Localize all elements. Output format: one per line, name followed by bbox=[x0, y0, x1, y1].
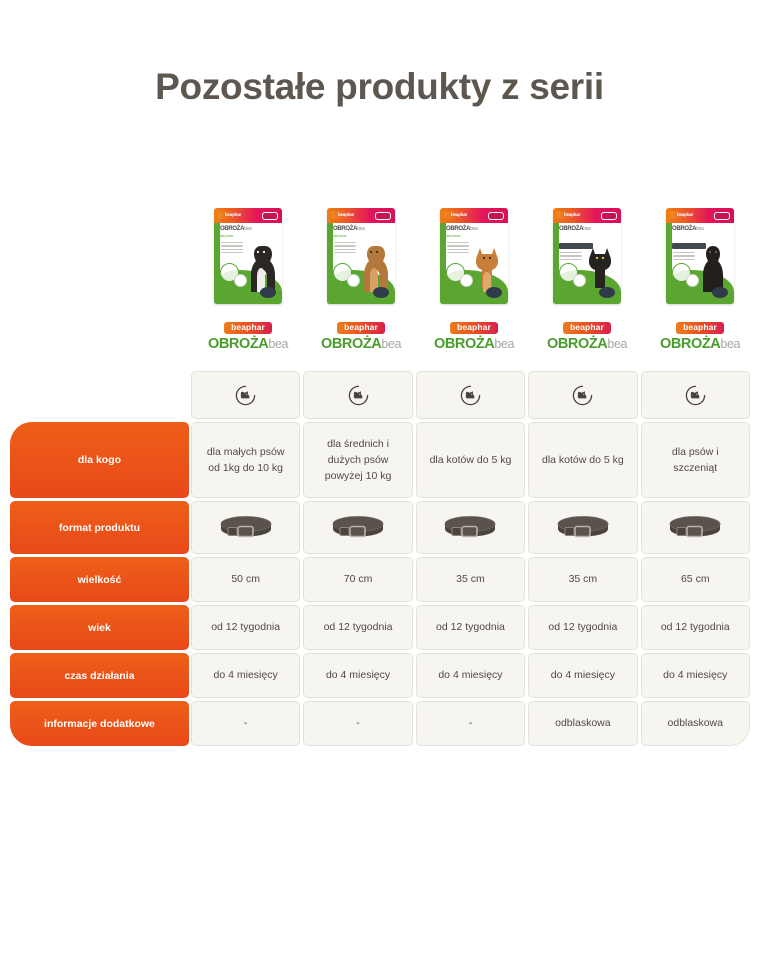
animal-head-icon bbox=[528, 371, 637, 419]
row-label-dla-kogo: dla kogo bbox=[10, 422, 189, 498]
animal-head-icon bbox=[191, 371, 300, 419]
logo-word-main: OBROŻA bbox=[321, 336, 381, 352]
product-package-image: beaphar OBROŻAbea dla psów bbox=[214, 208, 282, 304]
package-title: OBROŻAbea bbox=[672, 226, 704, 232]
product-logo: beaphar OBROŻAbea bbox=[660, 318, 740, 352]
package-brand-badge: beaphar bbox=[670, 211, 700, 219]
package-subtitle: dla psów bbox=[333, 234, 346, 238]
table-cell: od 12 tygodnia bbox=[191, 605, 300, 650]
table-row: informacje dodatkowe - - - odblaskowa od… bbox=[10, 701, 750, 746]
table-cell: dla małych psów od 1kg do 10 kg bbox=[191, 422, 300, 498]
animal-head-icon bbox=[641, 371, 750, 419]
table-cell: 35 cm bbox=[416, 557, 525, 602]
package-body: OBROŻAbea bbox=[553, 223, 621, 304]
product-package-image: beaphar OBROŻAbea bbox=[666, 208, 734, 304]
package-body: OBROŻAbea dla kotów bbox=[440, 223, 508, 304]
product-logo-word: OBROŻAbea bbox=[208, 337, 288, 352]
package-subtitle: dla psów bbox=[220, 234, 233, 238]
dog-golden-icon bbox=[357, 242, 391, 294]
product-logo: beaphar OBROŻAbea bbox=[321, 318, 401, 352]
collar-icon bbox=[303, 501, 412, 554]
table-cell: do 4 miesięcy bbox=[528, 653, 637, 698]
package-text-lines bbox=[221, 242, 243, 256]
package-brand-badge: beaphar bbox=[444, 211, 474, 219]
logo-word-suffix: bea bbox=[494, 337, 514, 351]
package-title: OBROŻAbea bbox=[559, 226, 591, 232]
logo-word-main: OBROŻA bbox=[660, 336, 720, 352]
table-cell: 65 cm bbox=[641, 557, 750, 602]
package-product-photo bbox=[260, 287, 276, 298]
package-brand-badge: beaphar bbox=[331, 211, 361, 219]
table-cell: odblaskowa bbox=[641, 701, 750, 746]
brand-badge: beaphar bbox=[563, 322, 611, 334]
table-row: czas działania do 4 miesięcy do 4 miesię… bbox=[10, 653, 750, 698]
brand-badge: beaphar bbox=[676, 322, 724, 334]
collar-icon bbox=[191, 501, 300, 554]
brand-badge: beaphar bbox=[224, 322, 272, 334]
package-corner-tag bbox=[601, 212, 617, 220]
package-title: OBROŻAbea bbox=[220, 226, 252, 232]
product-logo-word: OBROŻAbea bbox=[434, 337, 514, 352]
table-cell: dla psów i szczeniąt bbox=[641, 422, 750, 498]
package-text-lines bbox=[560, 252, 582, 262]
package-product-photo bbox=[712, 287, 728, 298]
collar-icon bbox=[641, 501, 750, 554]
table-row: format produktu bbox=[10, 501, 750, 554]
package-product-photo bbox=[486, 287, 502, 298]
package-brand-badge: beaphar bbox=[218, 211, 248, 219]
package-corner-tag bbox=[262, 212, 278, 220]
product-package-image: beaphar OBROŻAbea bbox=[553, 208, 621, 304]
product-logo-word: OBROŻAbea bbox=[547, 337, 627, 352]
product-package-image: beaphar OBROŻAbea dla kotów bbox=[440, 208, 508, 304]
package-body: OBROŻAbea dla psów bbox=[327, 223, 395, 304]
logo-word-suffix: bea bbox=[720, 337, 740, 351]
table-cell: 50 cm bbox=[191, 557, 300, 602]
product-logo: beaphar OBROŻAbea bbox=[208, 318, 288, 352]
dog-black-white-icon bbox=[244, 242, 278, 294]
table-cell: do 4 miesięcy bbox=[641, 653, 750, 698]
logo-word-suffix: bea bbox=[607, 337, 627, 351]
package-product-photo bbox=[373, 287, 389, 298]
package-brand-badge: beaphar bbox=[557, 211, 587, 219]
brand-badge: beaphar bbox=[450, 322, 498, 334]
table-cell: od 12 tygodnia bbox=[303, 605, 412, 650]
table-cell: do 4 miesięcy bbox=[191, 653, 300, 698]
row-label-informacje-dodatkowe: informacje dodatkowe bbox=[10, 701, 189, 746]
product-logo-word: OBROŻAbea bbox=[321, 337, 401, 352]
comparison-table: dla kogo dla małych psów od 1kg do 10 kg… bbox=[10, 371, 750, 749]
product-card[interactable]: beaphar OBROŻAbea dla psów bbox=[192, 208, 304, 352]
table-row: wielkość 50 cm 70 cm 35 cm 35 cm 65 cm bbox=[10, 557, 750, 602]
row-label-wielkosc: wielkość bbox=[10, 557, 189, 602]
logo-word-main: OBROŻA bbox=[434, 336, 494, 352]
package-title: OBROŻAbea bbox=[446, 226, 478, 232]
product-logo-word: OBROŻAbea bbox=[660, 337, 740, 352]
table-row: wiek od 12 tygodnia od 12 tygodnia od 12… bbox=[10, 605, 750, 650]
product-card[interactable]: beaphar OBROŻAbea dla kotów bbox=[418, 208, 530, 352]
table-cell: - bbox=[416, 701, 525, 746]
cat-ginger-icon bbox=[470, 242, 504, 294]
table-cell: - bbox=[303, 701, 412, 746]
dog-black-icon bbox=[696, 242, 730, 294]
product-logo: beaphar OBROŻAbea bbox=[547, 318, 627, 352]
product-card[interactable]: beaphar OBROŻAbea dla psów bbox=[305, 208, 417, 352]
product-package-image: beaphar OBROŻAbea dla psów bbox=[327, 208, 395, 304]
logo-word-main: OBROŻA bbox=[208, 336, 268, 352]
package-body: OBROŻAbea bbox=[666, 223, 734, 304]
table-cell: dla średnich i dużych psów powyżej 10 kg bbox=[303, 422, 412, 498]
package-text-lines bbox=[447, 242, 469, 256]
package-title: OBROŻAbea bbox=[333, 226, 365, 232]
row-label-format-produktu: format produktu bbox=[10, 501, 189, 554]
row-label-czas-dzialania: czas działania bbox=[10, 653, 189, 698]
cat-black-icon bbox=[583, 242, 617, 294]
table-cell: dla kotów do 5 kg bbox=[416, 422, 525, 498]
table-cell: - bbox=[191, 701, 300, 746]
product-card[interactable]: beaphar OBROŻAbea bbox=[644, 208, 756, 352]
package-corner-tag bbox=[714, 212, 730, 220]
row-label-wiek: wiek bbox=[10, 605, 189, 650]
package-subtitle: dla kotów bbox=[446, 234, 460, 238]
product-list: beaphar OBROŻAbea dla psów bbox=[192, 208, 758, 352]
table-cell: od 12 tygodnia bbox=[528, 605, 637, 650]
table-cell: 35 cm bbox=[528, 557, 637, 602]
animal-head-icon bbox=[303, 371, 412, 419]
package-product-photo bbox=[599, 287, 615, 298]
collar-icon bbox=[528, 501, 637, 554]
package-body: OBROŻAbea dla psów bbox=[214, 223, 282, 304]
animal-head-icon bbox=[416, 371, 525, 419]
table-cell: do 4 miesięcy bbox=[416, 653, 525, 698]
package-corner-tag bbox=[488, 212, 504, 220]
page-title: Pozostałe produkty z serii bbox=[0, 66, 759, 108]
package-corner-tag bbox=[375, 212, 391, 220]
label-column-spacer bbox=[10, 371, 189, 419]
package-text-lines bbox=[334, 242, 356, 256]
table-header-row bbox=[10, 371, 750, 419]
product-logo: beaphar OBROŻAbea bbox=[434, 318, 514, 352]
table-cell: odblaskowa bbox=[528, 701, 637, 746]
table-cell: 70 cm bbox=[303, 557, 412, 602]
table-cell: dla kotów do 5 kg bbox=[528, 422, 637, 498]
table-cell: od 12 tygodnia bbox=[641, 605, 750, 650]
logo-word-suffix: bea bbox=[268, 337, 288, 351]
collar-icon bbox=[416, 501, 525, 554]
logo-word-main: OBROŻA bbox=[547, 336, 607, 352]
table-cell: do 4 miesięcy bbox=[303, 653, 412, 698]
logo-word-suffix: bea bbox=[381, 337, 401, 351]
table-cell: od 12 tygodnia bbox=[416, 605, 525, 650]
product-card[interactable]: beaphar OBROŻAbea bbox=[531, 208, 643, 352]
brand-badge: beaphar bbox=[337, 322, 385, 334]
package-text-lines bbox=[673, 252, 695, 262]
table-row: dla kogo dla małych psów od 1kg do 10 kg… bbox=[10, 422, 750, 498]
